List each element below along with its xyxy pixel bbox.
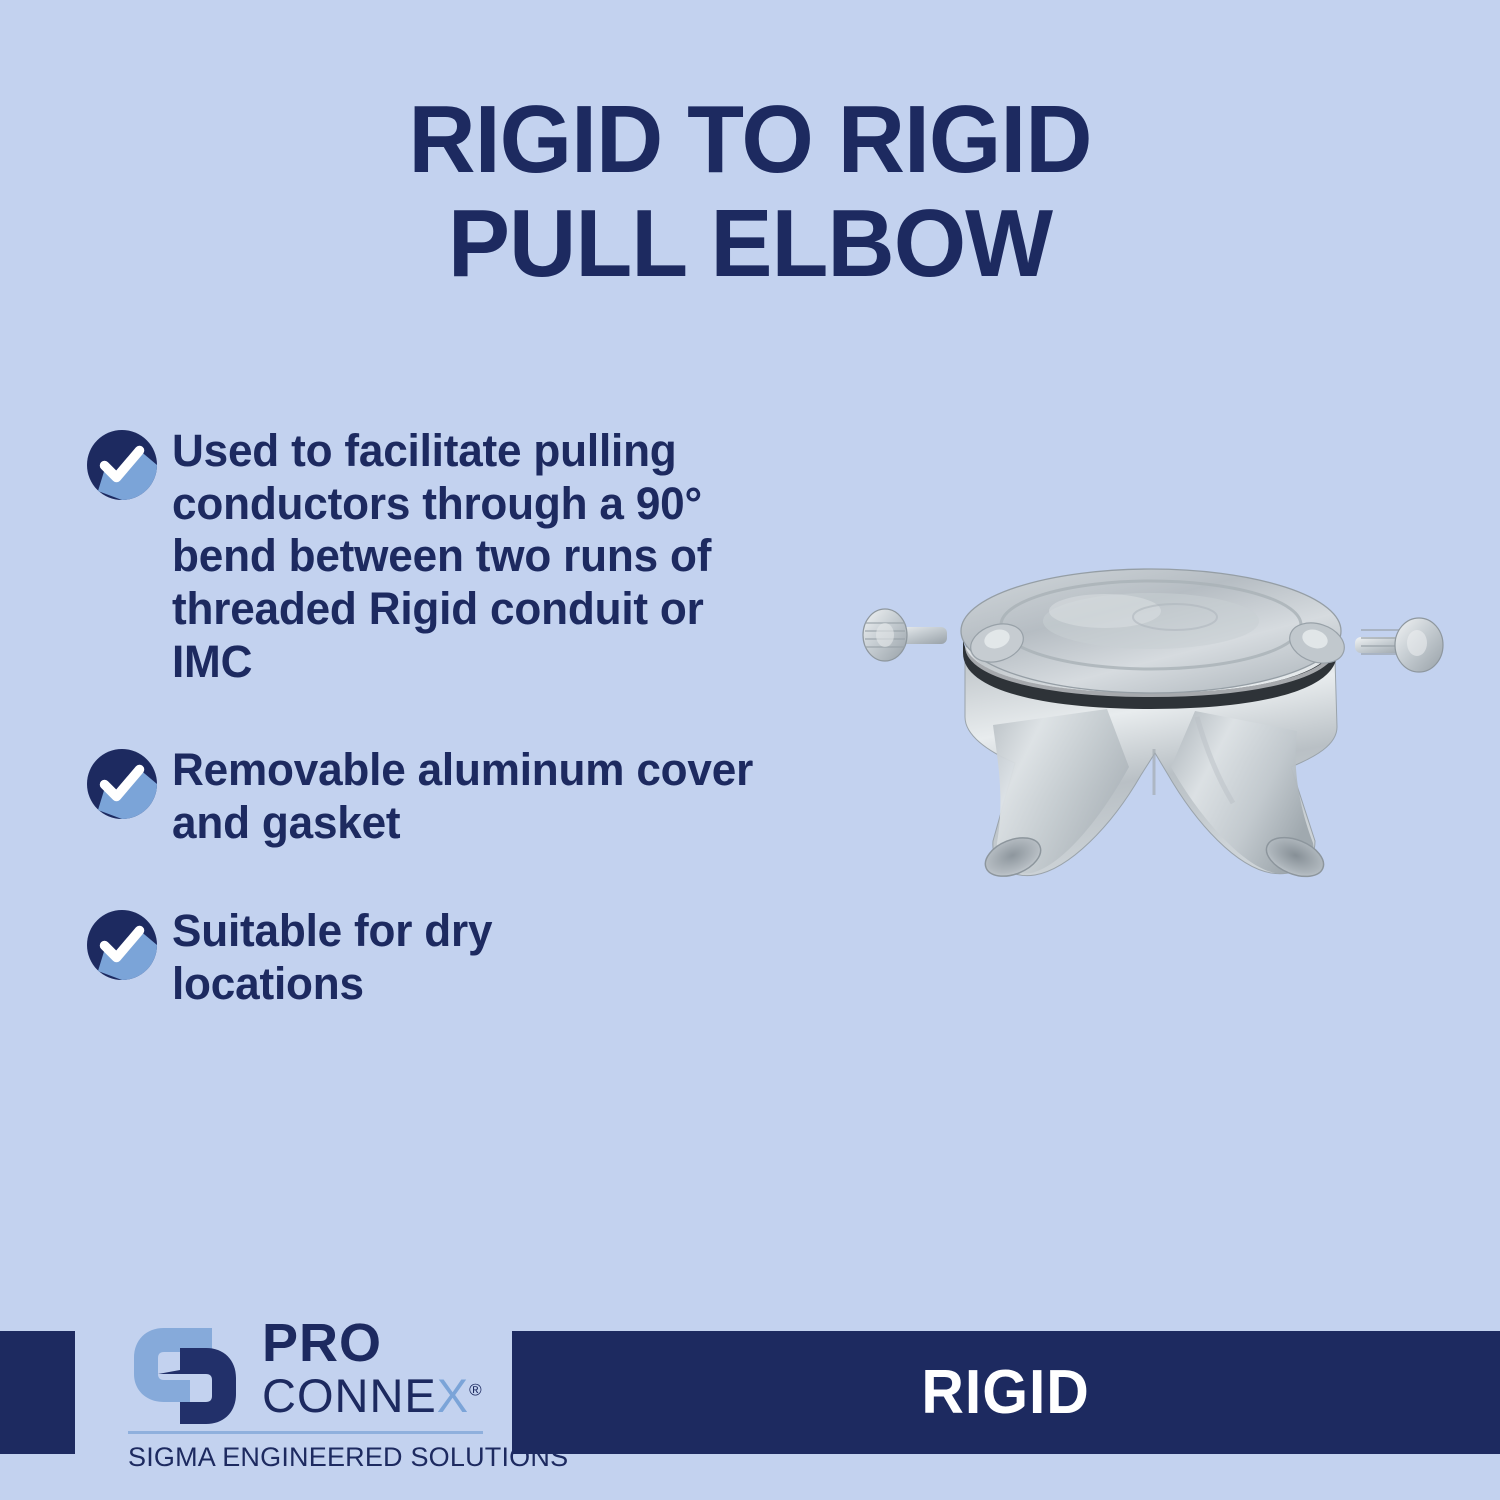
feature-item-label: Suitable for dry locations (172, 905, 564, 1010)
cover-screw-right (1355, 618, 1443, 672)
check-circle-icon (86, 909, 158, 981)
logo-tagline: SIGMA ENGINEERED SOLUTIONS (128, 1442, 488, 1473)
footer-accent-block (0, 1331, 75, 1454)
check-circle-icon (86, 748, 158, 820)
feature-item: Suitable for dry locations (86, 905, 826, 1010)
proconnex-logo-mark-icon (126, 1322, 244, 1434)
logo-connex-main: CONNE (262, 1369, 437, 1422)
logo-divider (128, 1431, 483, 1434)
page-title: RIGID TO RIGID PULL ELBOW (0, 92, 1500, 292)
pull-elbow-illustration (845, 495, 1455, 895)
logo-connex-x: X (437, 1369, 469, 1422)
category-bar: RIGID (512, 1331, 1500, 1454)
feature-item-label: Used to facilitate pulling conductors th… (172, 425, 772, 688)
logo-word-connex: CONNEX® (262, 1372, 492, 1419)
logo-word-pro: PRO (262, 1318, 492, 1369)
registered-trademark-icon: ® (469, 1381, 483, 1400)
brand-logo: PRO CONNEX® SIGMA ENGINEERED SOLUTIONS (126, 1318, 486, 1478)
feature-item: Used to facilitate pulling conductors th… (86, 425, 826, 688)
cover-screw-left (863, 609, 947, 661)
title-line-2: PULL ELBOW (23, 196, 1478, 292)
feature-list: Used to facilitate pulling conductors th… (86, 425, 826, 1011)
feature-item: Removable aluminum cover and gasket (86, 744, 826, 849)
check-circle-icon (86, 429, 158, 501)
product-image (845, 495, 1455, 895)
logo-wordmark: PRO CONNEX® (262, 1318, 492, 1419)
category-label: RIGID (922, 1357, 1090, 1428)
feature-item-label: Removable aluminum cover and gasket (172, 744, 813, 849)
title-line-1: RIGID TO RIGID (23, 92, 1478, 188)
